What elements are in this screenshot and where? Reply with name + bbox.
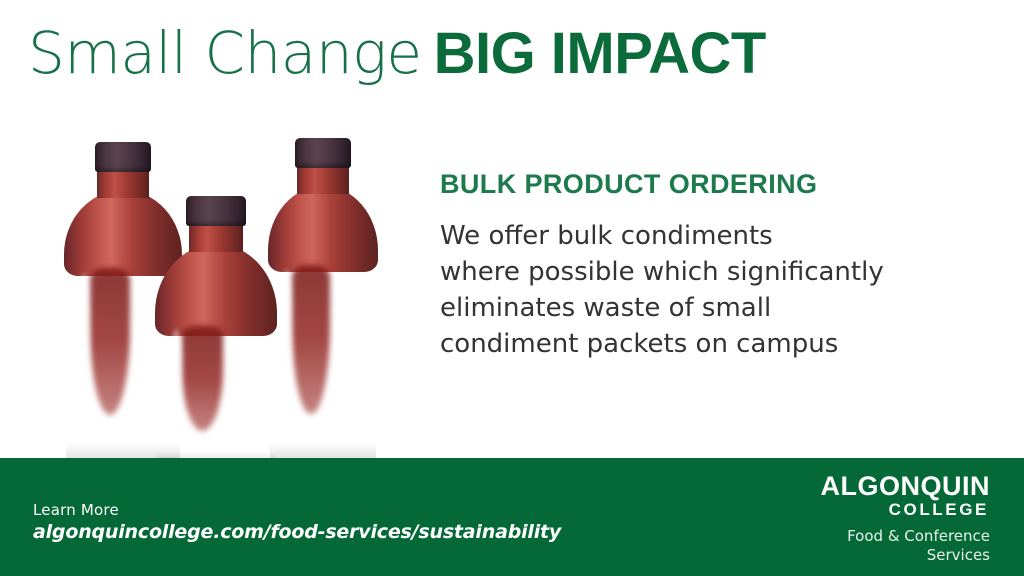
bottle-highlight: [170, 329, 182, 449]
bottle-sauce: [182, 326, 223, 431]
bottle-right: [268, 126, 378, 470]
bottle-highlight: [281, 269, 292, 440]
copy-line: where possible which significantly: [440, 254, 940, 290]
bottle-sauce: [90, 268, 130, 415]
copy-line: eliminates waste of small: [440, 290, 940, 326]
learn-more-label: Learn More: [33, 500, 561, 520]
footer-bar: Learn More algonquincollege.com/food-ser…: [0, 458, 1024, 576]
bottle-cap-icon: [95, 142, 151, 172]
logo-department-line1: Food & Conference: [821, 527, 991, 546]
logo-wordmark: ALGONQUIN: [821, 472, 991, 500]
learn-more-block: Learn More algonquincollege.com/food-ser…: [33, 500, 561, 544]
algonquin-college-logo: ALGONQUIN COLLEGE Food & Conference Serv…: [821, 472, 991, 565]
bottle-cap-icon: [186, 196, 246, 226]
bottle-neck: [97, 168, 149, 198]
bottle-neck: [297, 164, 349, 194]
copy-heading: BULK PRODUCT ORDERING: [440, 170, 940, 200]
copy-line: We offer bulk condiments: [440, 218, 940, 254]
bottle-body: [155, 320, 277, 470]
copy-paragraph: We offer bulk condiments where possible …: [440, 218, 940, 362]
bottle-body: [268, 256, 378, 470]
bottle-sauce: [292, 265, 329, 415]
logo-college-text: COLLEGE: [821, 500, 990, 520]
slide-canvas: Small ChangeBIG IMPACT: [0, 0, 1024, 576]
page-title: Small ChangeBIG IMPACT: [28, 24, 766, 83]
headline-light-text: Small Change: [28, 19, 422, 87]
bottle-highlight: [78, 273, 90, 441]
copy-line: condiment packets on campus: [440, 326, 940, 362]
logo-department: Food & Conference Services: [821, 527, 991, 565]
bottle-neck: [189, 222, 243, 252]
condiment-bottles-image: [40, 110, 400, 470]
headline-bold-text: BIG IMPACT: [434, 21, 766, 86]
bottle-center: [155, 152, 277, 470]
bottle-cap-icon: [295, 138, 351, 168]
logo-department-line2: Services: [821, 546, 991, 565]
sustainability-link[interactable]: algonquincollege.com/food-services/susta…: [33, 520, 561, 544]
copy-block: BULK PRODUCT ORDERING We offer bulk cond…: [440, 170, 940, 362]
